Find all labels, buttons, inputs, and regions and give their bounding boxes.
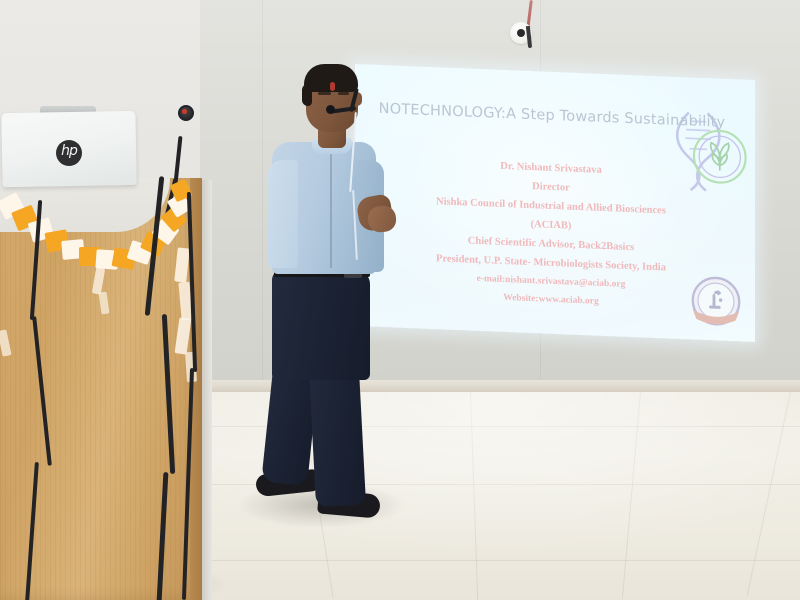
presenter-sleeve-left <box>268 160 298 268</box>
presenter-hips <box>272 270 370 380</box>
tilak-mark <box>330 82 335 91</box>
microphone-indicator-icon <box>182 109 187 114</box>
presentation-photo-scene: NOTECHNOLOGY:A Step Towards Sustainabili… <box>0 0 800 600</box>
microbiologists-society-seal <box>687 273 745 333</box>
projected-slide: NOTECHNOLOGY:A Step Towards Sustainabili… <box>355 64 755 342</box>
sensor-lens-icon <box>517 29 525 37</box>
headset-mic-capsule-icon <box>326 105 335 114</box>
hp-logo-icon <box>56 140 82 166</box>
